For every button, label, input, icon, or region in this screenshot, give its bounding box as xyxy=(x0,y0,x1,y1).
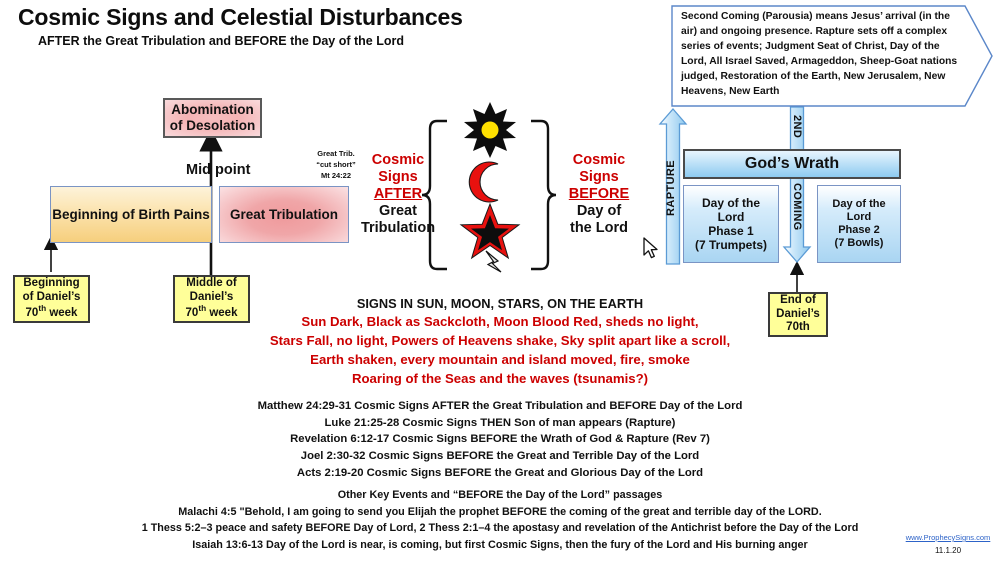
signs-line-2: Stars Fall, no light, Powers of Heavens … xyxy=(0,332,1000,351)
day-of-lord-phase1-box: Day of the Lord Phase 1 (7 Trumpets) xyxy=(683,185,779,263)
second-label: 2ND xyxy=(791,115,803,138)
cosmic-before-line-1: Cosmic xyxy=(557,152,641,169)
cosmic-before-line-4: Day of xyxy=(557,203,641,220)
day-of-lord-phase2-box: Day of the Lord Phase 2 (7 Bowls) xyxy=(817,185,901,263)
scripture-line-3: Revelation 6:12-17 Cosmic Signs BEFORE t… xyxy=(0,431,1000,448)
other-line-3: Isaiah 13:6-13 Day of the Lord is near, … xyxy=(0,537,1000,554)
rapture-label: RAPTURE xyxy=(665,160,677,216)
abomination-box: Abomination of Desolation xyxy=(163,98,262,138)
cosmic-after-line-2: Signs xyxy=(356,169,440,186)
cosmic-before-line-2: Signs xyxy=(557,169,641,186)
signs-line-4: Roaring of the Seas and the waves (tsuna… xyxy=(0,370,1000,389)
gods-wrath-bar: God’s Wrath xyxy=(683,149,901,179)
midpoint-label: Mid point xyxy=(186,162,250,178)
lightning-bolt-icon xyxy=(486,251,501,272)
phase1-line-1: Day of the xyxy=(695,196,767,210)
phase2-line-2: Lord xyxy=(832,211,885,224)
signs-line-1: Sun Dark, Black as Sackcloth, Moon Blood… xyxy=(0,313,1000,332)
cosmic-signs-before-label: Cosmic Signs BEFORE Day of the Lord xyxy=(557,152,641,237)
prophecysigns-link[interactable]: www.ProphecySigns.com xyxy=(906,533,991,542)
other-line-2: 1 Thess 5:2–3 peace and safety BEFORE Da… xyxy=(0,520,1000,537)
diagram-canvas: Cosmic Signs and Celestial Disturbances … xyxy=(0,0,1000,562)
scripture-block: Matthew 24:29-31 Cosmic Signs AFTER the … xyxy=(0,398,1000,482)
scripture-line-2: Luke 21:25-28 Cosmic Signs THEN Son of m… xyxy=(0,415,1000,432)
signs-line-3: Earth shaken, every mountain and island … xyxy=(0,351,1000,370)
mouse-cursor xyxy=(643,237,661,261)
phase1-line-3: Phase 1 xyxy=(695,224,767,238)
cosmic-after-line-5: Tribulation xyxy=(356,220,440,237)
great-tribulation-box: Great Tribulation xyxy=(219,186,349,243)
cosmic-after-line-4: Great xyxy=(356,203,440,220)
beginning-daniel-line-1: Beginning xyxy=(23,277,81,291)
cosmic-after-line-1: Cosmic xyxy=(356,152,440,169)
phase1-line-2: Lord xyxy=(695,210,767,224)
phase2-line-4: (7 Bowls) xyxy=(832,237,885,250)
scripture-line-4: Joel 2:30-32 Cosmic Signs BEFORE the Gre… xyxy=(0,448,1000,465)
crescent-moon-icon xyxy=(469,162,498,202)
star-icon xyxy=(461,204,519,258)
coming-label: COMING xyxy=(791,183,803,231)
right-brace xyxy=(531,121,556,269)
phase2-line-1: Day of the xyxy=(832,198,885,211)
phase2-line-3: Phase 2 xyxy=(832,224,885,237)
cosmic-after-line-3: AFTER xyxy=(356,186,440,203)
footer: www.ProphecySigns.com 11.1.20 xyxy=(900,527,996,555)
other-header: Other Key Events and “BEFORE the Day of … xyxy=(0,487,1000,504)
birth-pains-box: Beginning of Birth Pains xyxy=(50,186,212,243)
phase1-line-4: (7 Trumpets) xyxy=(695,238,767,252)
cosmic-before-line-5: the Lord xyxy=(557,220,641,237)
other-line-1: Malachi 4:5 "Behold, I am going to send … xyxy=(0,504,1000,521)
cosmic-before-line-3: BEFORE xyxy=(557,186,641,203)
celestial-symbols xyxy=(455,100,525,270)
callout-text: Second Coming (Parousia) means Jesus’ ar… xyxy=(681,10,959,100)
middle-daniel-line-1: Middle of xyxy=(186,277,238,291)
sun-icon xyxy=(464,102,516,158)
footer-date: 11.1.20 xyxy=(900,546,996,555)
cosmic-signs-after-label: Cosmic Signs AFTER Great Tribulation xyxy=(356,152,440,237)
scripture-line-5: Acts 2:19-20 Cosmic Signs BEFORE the Gre… xyxy=(0,465,1000,482)
signs-header: SIGNS IN SUN, MOON, STARS, ON THE EARTH xyxy=(0,294,1000,313)
other-events-block: Other Key Events and “BEFORE the Day of … xyxy=(0,487,1000,554)
signs-block: SIGNS IN SUN, MOON, STARS, ON THE EARTH … xyxy=(0,294,1000,389)
scripture-line-1: Matthew 24:29-31 Cosmic Signs AFTER the … xyxy=(0,398,1000,415)
